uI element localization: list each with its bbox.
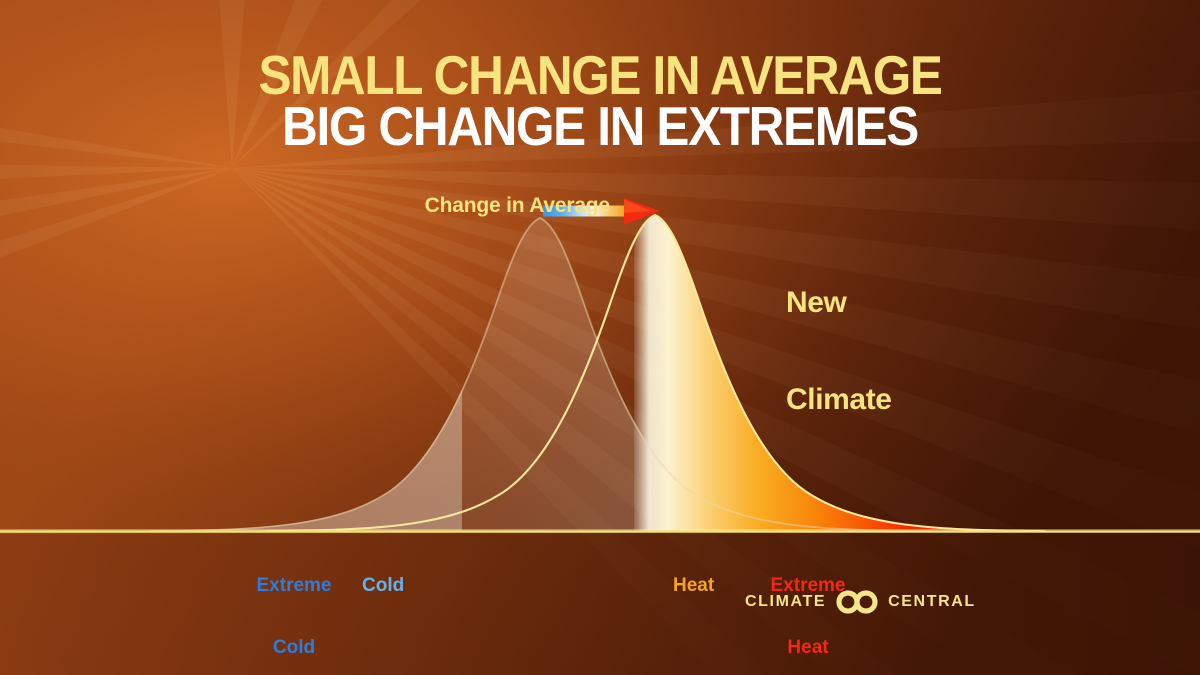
axis-label-cold-line-1: Cold: [362, 576, 442, 597]
axis-label-extreme-heat-line-2: Heat: [752, 638, 864, 659]
new-climate-line-2: Climate: [786, 384, 892, 416]
change-in-average-text: Change in Average: [425, 194, 610, 217]
axis-label-extreme-cold: Extreme Cold: [238, 534, 350, 675]
axis-label-cold: Cold: [362, 534, 442, 638]
axis-label-heat-line-1: Heat: [673, 576, 743, 597]
logo-word-central: CENTRAL: [888, 593, 976, 611]
change-in-average-label: Change in Average: [0, 170, 1200, 242]
new-climate-line-1: New: [786, 287, 892, 319]
climate-central-rings-icon: [833, 590, 881, 614]
infographic-canvas: SMALL CHANGE IN AVERAGE BIG CHANGE IN EX…: [0, 0, 1200, 675]
axis-label-heat: Heat: [673, 534, 743, 638]
new-climate-label: New Climate: [786, 222, 892, 481]
axis-label-extreme-cold-line-1: Extreme: [238, 576, 350, 597]
climate-central-logo: CLIMATE CENTRAL: [745, 590, 976, 614]
logo-word-climate: CLIMATE: [745, 593, 826, 611]
title-line-1: SMALL CHANGE IN AVERAGE: [60, 50, 1140, 101]
title-line-2: BIG CHANGE IN EXTREMES: [60, 101, 1140, 152]
page-title: SMALL CHANGE IN AVERAGE BIG CHANGE IN EX…: [0, 50, 1200, 151]
axis-label-extreme-cold-line-2: Cold: [238, 638, 350, 659]
